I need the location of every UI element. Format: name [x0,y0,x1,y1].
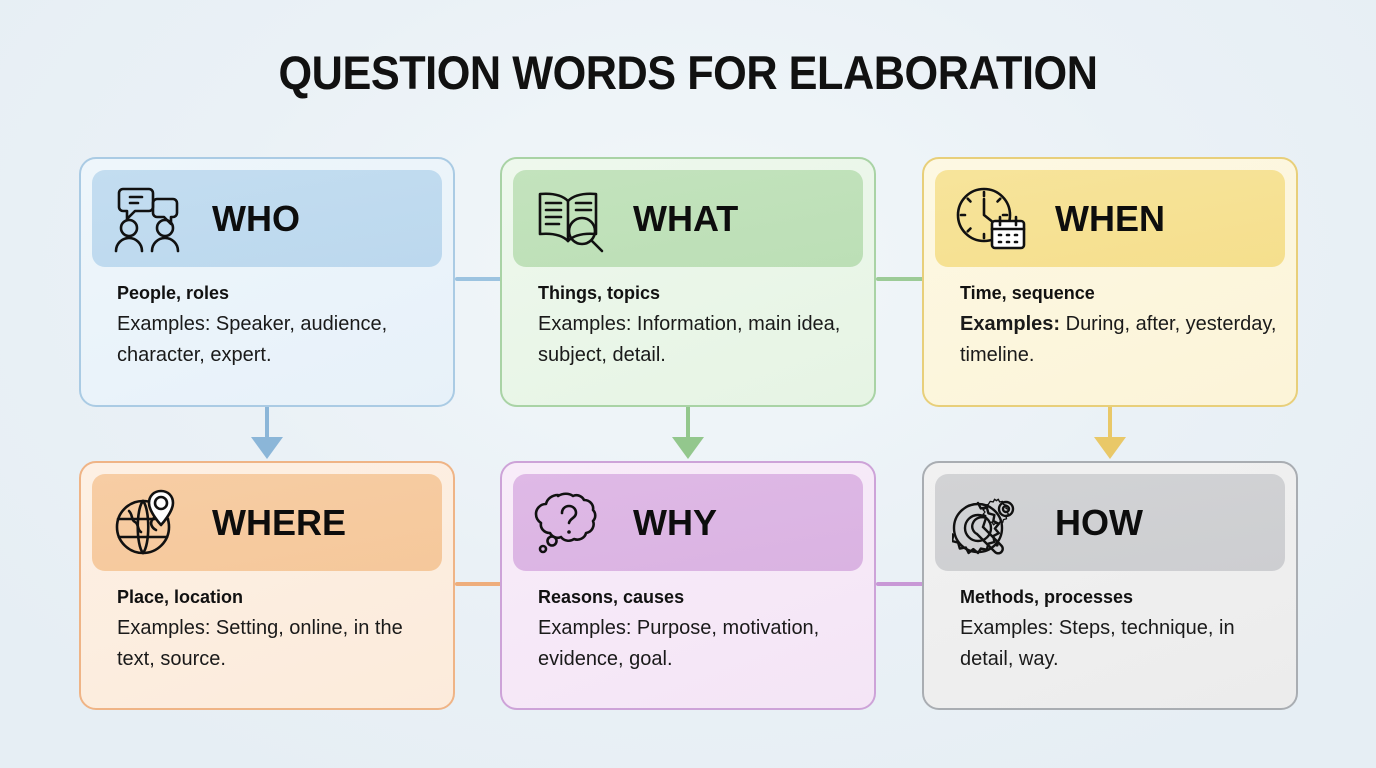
open-book-magnifier-icon [529,182,609,256]
card-what-body: Things, topics Examples: Information, ma… [538,281,858,372]
connector-when-how-arrowhead [1094,437,1126,459]
card-when[interactable]: WHEN Time, sequence Examples: During, af… [922,157,1298,407]
globe-map-pin-icon [108,486,188,560]
card-how-lead: Methods, processes [960,585,1280,611]
card-when-word: WHEN [1055,198,1165,240]
gears-wrench-icon [951,486,1031,560]
connector-what-why-arrowhead [672,437,704,459]
card-who-lead: People, roles [117,281,437,307]
card-how-word: HOW [1055,502,1143,544]
card-who-header: WHO [92,170,442,267]
card-what[interactable]: WHAT Things, topics Examples: Informatio… [500,157,876,407]
card-what-word: WHAT [633,198,738,240]
card-how-examples: Examples: Steps, technique, in detail, w… [960,613,1280,676]
two-people-speech-bubbles-icon [108,182,188,256]
card-why-word: WHY [633,502,717,544]
card-when-header: WHEN [935,170,1285,267]
card-where[interactable]: WHERE Place, location Examples: Setting,… [79,461,455,710]
connector-why-how [876,582,924,586]
card-who-body: People, roles Examples: Speaker, audienc… [117,281,437,372]
connector-who-where-arrowhead [251,437,283,459]
card-why-body: Reasons, causes Examples: Purpose, motiv… [538,585,858,676]
clock-calendar-icon [951,182,1031,256]
thought-bubble-question-mark-icon [529,486,609,560]
card-when-body: Time, sequence Examples: During, after, … [960,281,1280,372]
connector-where-why [455,582,502,586]
card-why-lead: Reasons, causes [538,585,858,611]
card-when-lead: Time, sequence [960,281,1280,307]
card-who-word: WHO [212,198,300,240]
connector-who-what [455,277,502,281]
card-who-examples: Examples: Speaker, audience, character, … [117,309,437,372]
card-what-header: WHAT [513,170,863,267]
connector-what-when [876,277,924,281]
card-why[interactable]: WHY Reasons, causes Examples: Purpose, m… [500,461,876,710]
card-when-examples-label: Examples: [960,313,1060,335]
card-where-body: Place, location Examples: Setting, onlin… [117,585,437,676]
card-when-examples: Examples: During, after, yesterday, time… [960,309,1280,372]
card-where-examples: Examples: Setting, online, in the text, … [117,613,437,676]
card-how-header: HOW [935,474,1285,571]
card-how-body: Methods, processes Examples: Steps, tech… [960,585,1280,676]
card-how[interactable]: HOW Methods, processes Examples: Steps, … [922,461,1298,710]
cards-grid: WHO People, roles Examples: Speaker, aud… [0,0,1376,768]
card-where-lead: Place, location [117,585,437,611]
card-why-examples: Examples: Purpose, motivation, evidence,… [538,613,858,676]
card-where-word: WHERE [212,502,346,544]
card-where-header: WHERE [92,474,442,571]
card-why-header: WHY [513,474,863,571]
card-what-examples: Examples: Information, main idea, subjec… [538,309,858,372]
card-who[interactable]: WHO People, roles Examples: Speaker, aud… [79,157,455,407]
card-what-lead: Things, topics [538,281,858,307]
